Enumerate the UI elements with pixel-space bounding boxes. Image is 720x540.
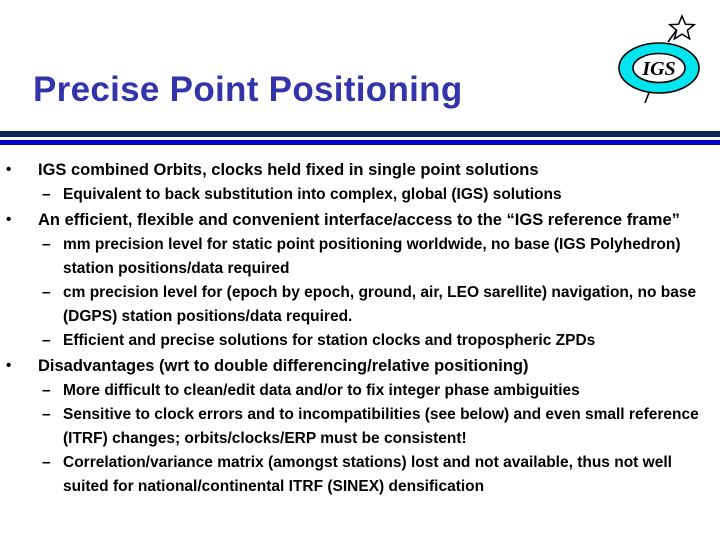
bullet-dash-icon: – [42,451,60,475]
bullet-list: •IGS combined Orbits, clocks held fixed … [0,157,720,499]
bullet-dash-icon: – [42,329,60,353]
bullet-dot-icon: • [6,207,22,233]
bullet-item-level2: –More difficult to clean/edit data and/o… [0,379,720,403]
bullet-text: Correlation/variance matrix (amongst sta… [63,454,672,495]
bullet-item-level2: –mm precision level for static point pos… [0,233,720,281]
bullet-text: Equivalent to back substitution into com… [63,186,562,203]
bullet-text: More difficult to clean/edit data and/or… [63,382,580,399]
bullet-text: An efficient, flexible and convenient in… [38,211,680,229]
bullet-dash-icon: – [42,233,60,257]
bullet-item-level2: –cm precision level for (epoch by epoch,… [0,281,720,329]
bullet-dash-icon: – [42,281,60,305]
bullet-item-level1: •Disadvantages (wrt to double differenci… [0,353,720,379]
slide: Precise Point Positioning IGS •IGS combi… [0,0,720,540]
bullet-item-level1: •IGS combined Orbits, clocks held fixed … [0,157,720,183]
logo-text: IGS [641,58,675,80]
bullet-dash-icon: – [42,183,60,207]
igs-logo: IGS [612,8,712,112]
page-title: Precise Point Positioning [33,72,463,107]
bullet-dash-icon: – [42,379,60,403]
bullet-item-level2: –Correlation/variance matrix (amongst st… [0,451,720,499]
bullet-item-level2: –Efficient and precise solutions for sta… [0,329,720,353]
bullet-item-level2: –Equivalent to back substitution into co… [0,183,720,207]
bullet-text: mm precision level for static point posi… [63,236,681,277]
bullet-dot-icon: • [6,157,22,183]
bullet-text: Sensitive to clock errors and to incompa… [63,406,699,447]
bullet-item-level1: •An efficient, flexible and convenient i… [0,207,720,233]
bullet-text: IGS combined Orbits, clocks held fixed i… [38,161,539,179]
bullet-text: Disadvantages (wrt to double differencin… [38,357,528,375]
bullet-dot-icon: • [6,353,22,379]
title-area: Precise Point Positioning [0,0,600,128]
bullet-text: cm precision level for (epoch by epoch, … [63,284,696,325]
bullet-text: Efficient and precise solutions for stat… [63,332,595,349]
bullet-item-level2: –Sensitive to clock errors and to incomp… [0,403,720,451]
divider-rule-bottom [0,140,720,145]
bullet-dash-icon: – [42,403,60,427]
